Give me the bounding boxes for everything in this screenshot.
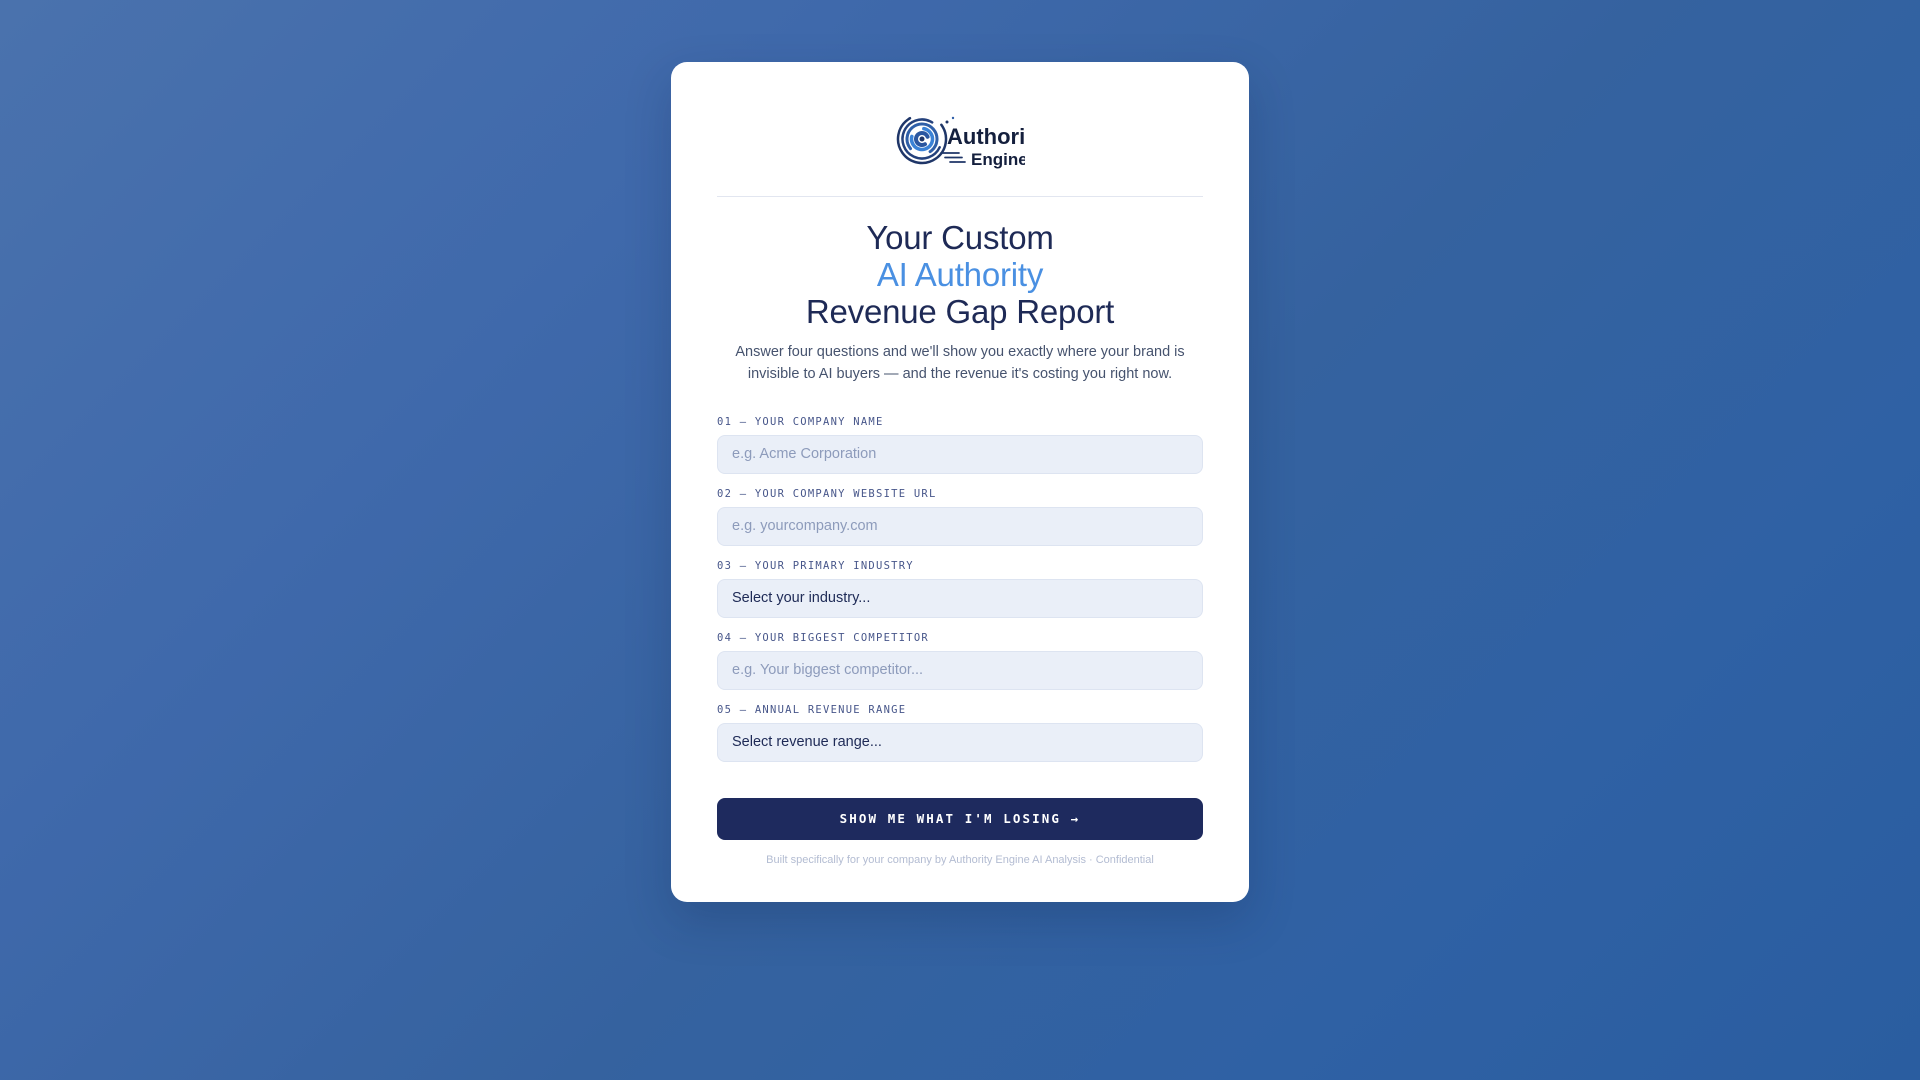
field-annual-revenue-range: 05 — ANNUAL REVENUE RANGE Select revenue… [717,704,1203,762]
brand-name-secondary: Engine [971,150,1025,169]
field-biggest-competitor: 04 — YOUR BIGGEST COMPETITOR [717,632,1203,690]
brand-name-primary: Authority [947,124,1025,149]
page-subtitle: Answer four questions and we'll show you… [717,342,1203,386]
field-label-primary-industry: 03 — YOUR PRIMARY INDUSTRY [717,560,1203,572]
field-primary-industry: 03 — YOUR PRIMARY INDUSTRY Select your i… [717,560,1203,618]
field-label-company-name: 01 — YOUR COMPANY NAME [717,416,1203,428]
submit-button[interactable]: SHOW ME WHAT I'M LOSING → [717,798,1203,840]
header-divider [717,196,1203,197]
field-label-biggest-competitor: 04 — YOUR BIGGEST COMPETITOR [717,632,1203,644]
headline-line-3: Revenue Gap Report [717,293,1203,330]
field-label-company-website: 02 — YOUR COMPANY WEBSITE URL [717,488,1203,500]
primary-industry-select[interactable]: Select your industry... [717,579,1203,618]
company-website-input[interactable] [717,507,1203,546]
page-title: Your Custom AI Authority Revenue Gap Rep… [717,219,1203,330]
headline-line-1: Your Custom [717,219,1203,256]
company-name-input[interactable] [717,435,1203,474]
report-form-card: Authority Engine Your Custom AI Authorit… [671,62,1249,902]
field-company-website: 02 — YOUR COMPANY WEBSITE URL [717,488,1203,546]
lead-capture-form: 01 — YOUR COMPANY NAME 02 — YOUR COMPANY… [717,416,1203,866]
brand-logo: Authority Engine [717,96,1203,182]
authority-engine-swirl-logo: Authority Engine [895,107,1025,171]
field-company-name: 01 — YOUR COMPANY NAME [717,416,1203,474]
footnote-text: Built specifically for your company by A… [717,854,1203,866]
biggest-competitor-input[interactable] [717,651,1203,690]
field-label-annual-revenue-range: 05 — ANNUAL REVENUE RANGE [717,704,1203,716]
annual-revenue-range-select[interactable]: Select revenue range... [717,723,1203,762]
headline-line-2-accent: AI Authority [717,256,1203,293]
